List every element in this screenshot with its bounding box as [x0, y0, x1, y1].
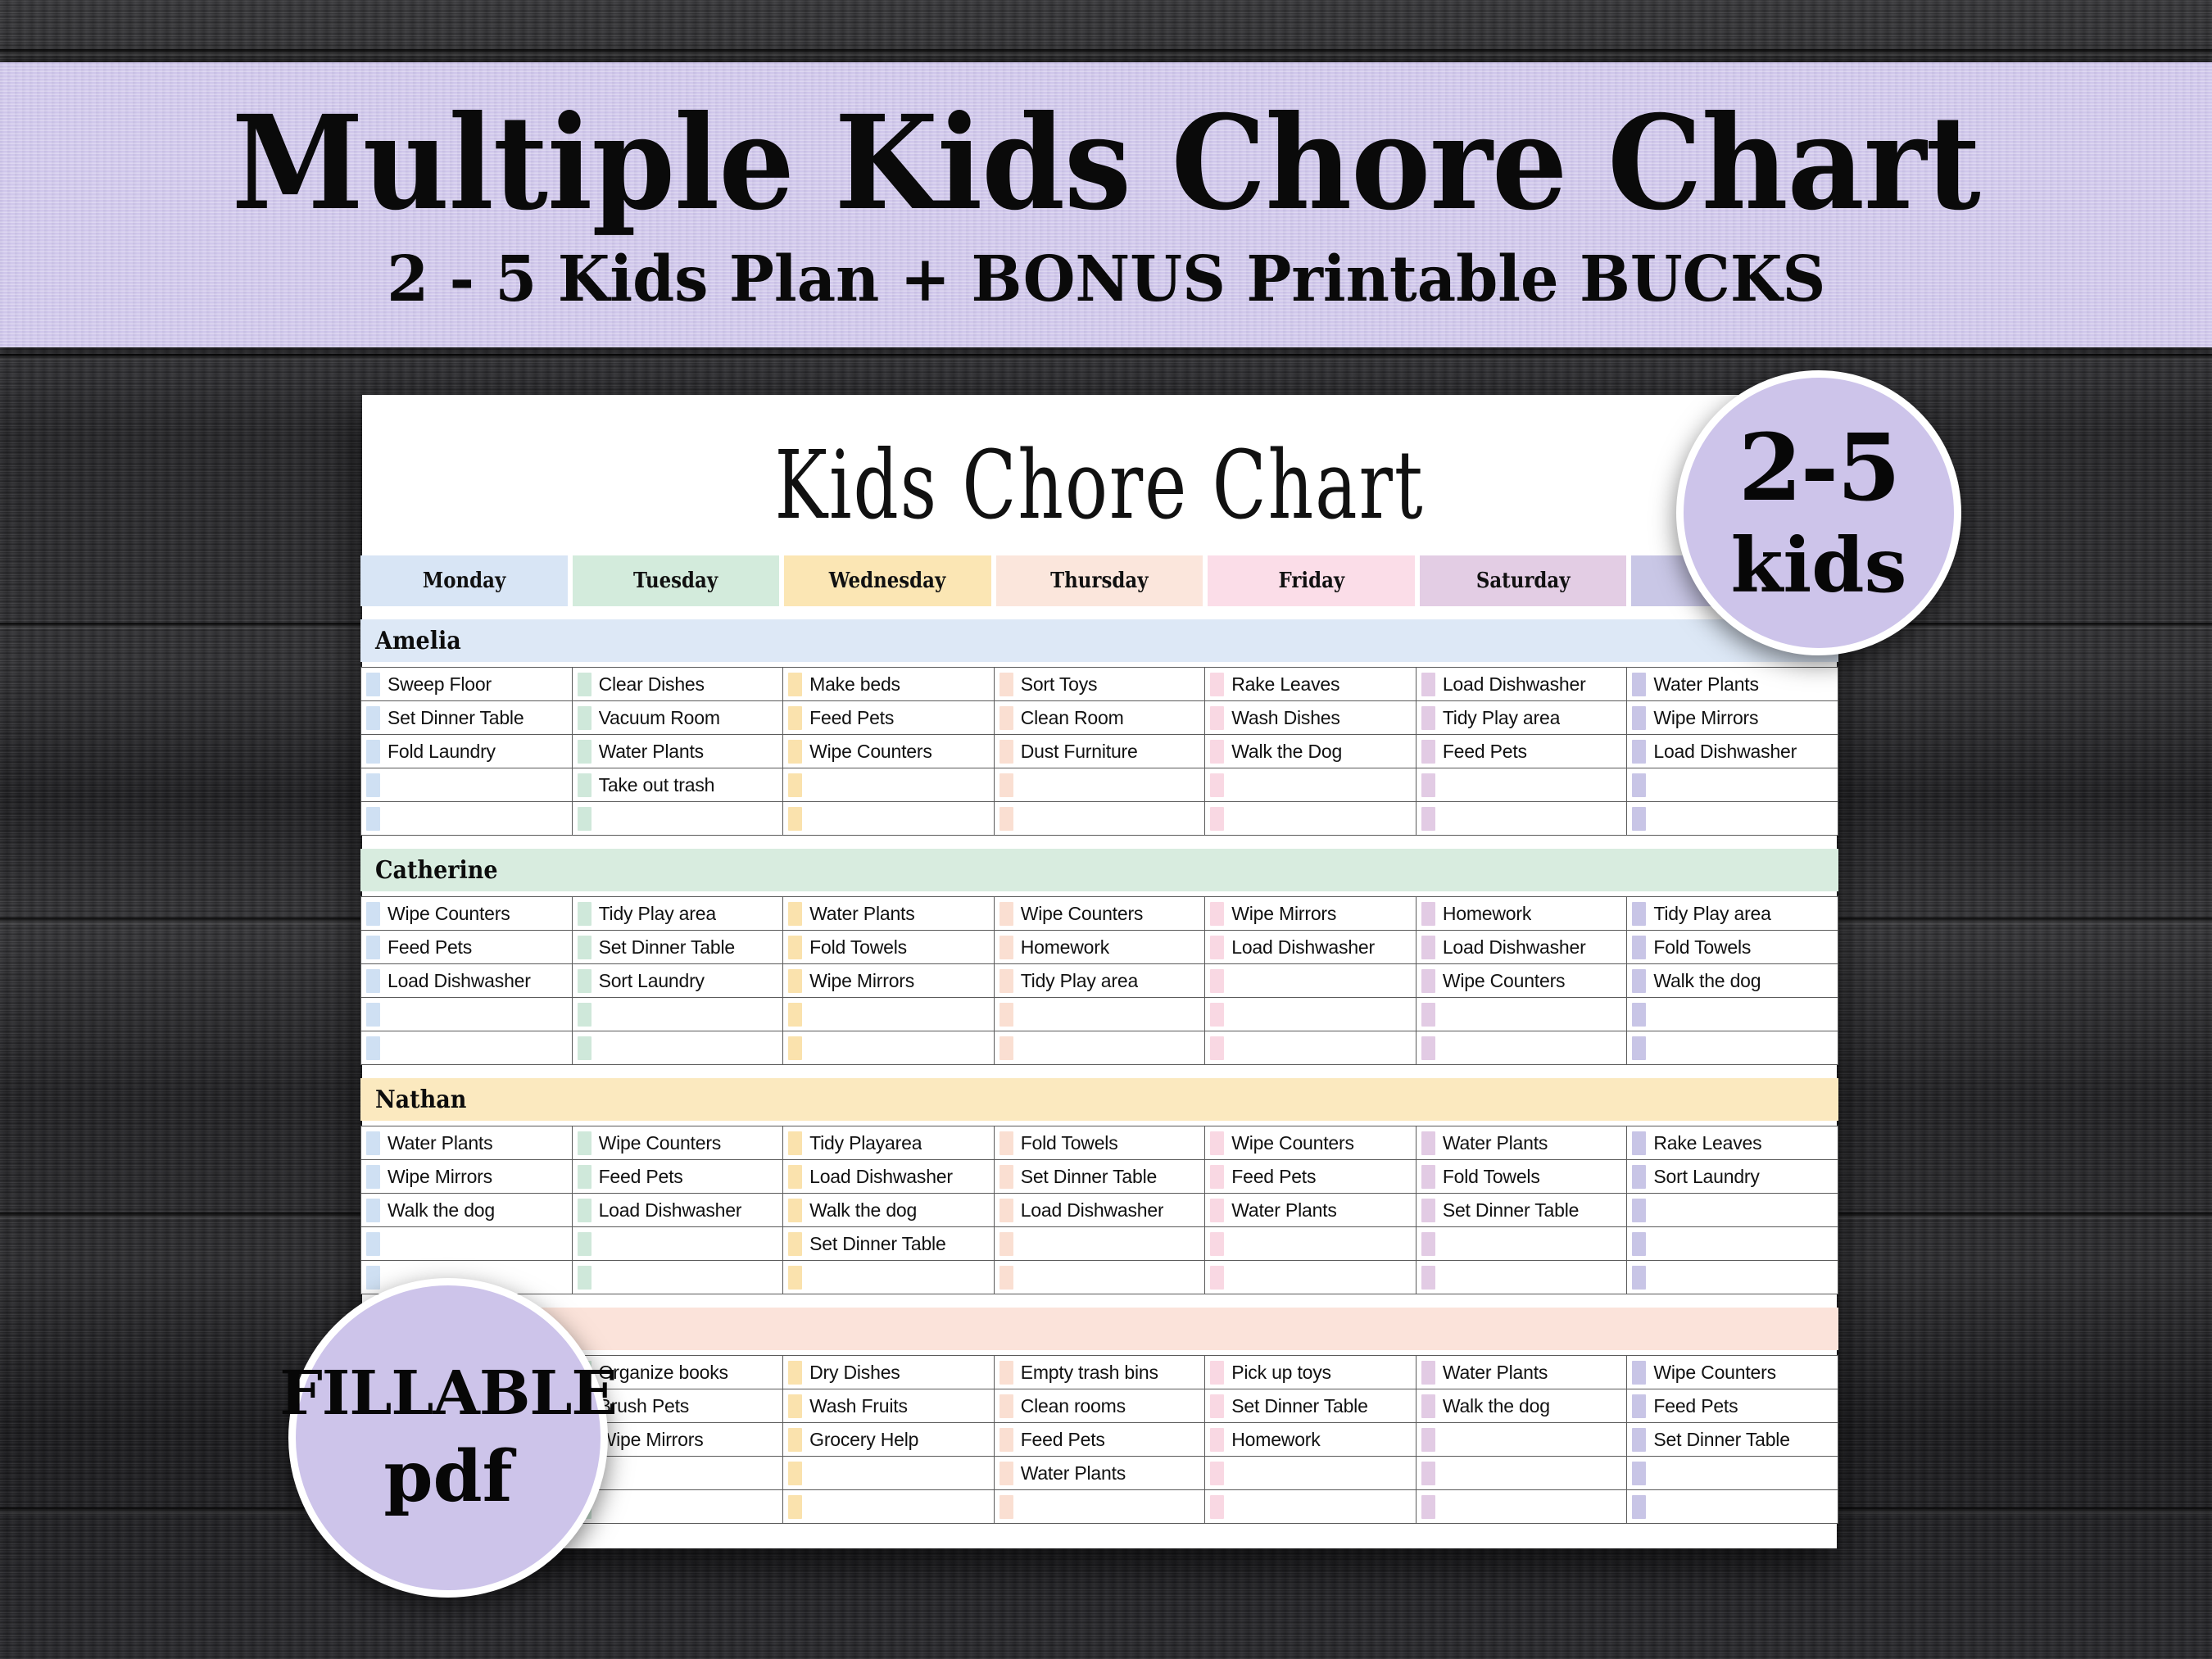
checkbox-chip-icon[interactable]	[788, 1003, 802, 1027]
chore-cell[interactable]: Homework	[994, 931, 1205, 964]
checkbox-chip-icon[interactable]	[788, 1266, 802, 1290]
chore-cell[interactable]: Water Plants	[994, 1457, 1205, 1490]
checkbox-chip-icon[interactable]	[1421, 969, 1435, 993]
checkbox-chip-icon[interactable]	[999, 773, 1013, 797]
chore-cell[interactable]	[361, 1031, 573, 1065]
checkbox-chip-icon[interactable]	[788, 1495, 802, 1519]
chore-cell[interactable]	[1627, 1457, 1838, 1490]
checkbox-chip-icon[interactable]	[1210, 807, 1224, 831]
checkbox-chip-icon[interactable]	[788, 1165, 802, 1189]
checkbox-chip-icon[interactable]	[366, 1131, 380, 1155]
chore-cell[interactable]	[783, 1031, 995, 1065]
checkbox-chip-icon[interactable]	[999, 1361, 1013, 1385]
chore-cell[interactable]: Set Dinner Table	[994, 1160, 1205, 1194]
checkbox-chip-icon[interactable]	[1632, 1428, 1646, 1452]
checkbox-chip-icon[interactable]	[1421, 1428, 1435, 1452]
chore-cell[interactable]: Fold Towels	[1627, 931, 1838, 964]
chore-cell[interactable]: Homework	[1205, 1423, 1416, 1457]
checkbox-chip-icon[interactable]	[1210, 1361, 1224, 1385]
chore-cell[interactable]: Water Plants	[783, 897, 995, 931]
checkbox-chip-icon[interactable]	[788, 1361, 802, 1385]
checkbox-chip-icon[interactable]	[1210, 1165, 1224, 1189]
chore-cell[interactable]	[1205, 1490, 1416, 1524]
chore-cell[interactable]: Wipe Mirrors	[783, 964, 995, 998]
chore-cell[interactable]: Load Dishwasher	[572, 1194, 783, 1227]
checkbox-chip-icon[interactable]	[1210, 1462, 1224, 1485]
chore-cell[interactable]: Load Dishwasher	[783, 1160, 995, 1194]
chore-cell[interactable]: Set Dinner Table	[1416, 1194, 1627, 1227]
checkbox-chip-icon[interactable]	[578, 1131, 592, 1155]
chore-cell[interactable]: Set Dinner Table	[1627, 1423, 1838, 1457]
chore-cell[interactable]	[572, 802, 783, 836]
checkbox-chip-icon[interactable]	[1210, 902, 1224, 926]
checkbox-chip-icon[interactable]	[999, 1131, 1013, 1155]
chore-table: Sweep FloorClear DishesMake bedsSort Toy…	[360, 667, 1838, 836]
checkbox-chip-icon[interactable]	[999, 1266, 1013, 1290]
checkbox-chip-icon[interactable]	[788, 1131, 802, 1155]
checkbox-chip-icon[interactable]	[1632, 1361, 1646, 1385]
person-name-header[interactable]: Nathan	[360, 1078, 1838, 1121]
checkbox-chip-icon[interactable]	[788, 1462, 802, 1485]
checkbox-chip-icon[interactable]	[1210, 1495, 1224, 1519]
chore-cell[interactable]	[1416, 1423, 1627, 1457]
chore-cell[interactable]: Set Dinner Table	[572, 931, 783, 964]
checkbox-chip-icon[interactable]	[788, 706, 802, 730]
chore-cell[interactable]: Sort Laundry	[572, 964, 783, 998]
chore-cell[interactable]	[1205, 998, 1416, 1031]
checkbox-chip-icon[interactable]	[366, 1199, 380, 1222]
checkbox-chip-icon[interactable]	[999, 807, 1013, 831]
checkbox-chip-icon[interactable]	[788, 969, 802, 993]
checkbox-chip-icon[interactable]	[1210, 1428, 1224, 1452]
chore-cell[interactable]: Wipe Counters	[361, 897, 573, 931]
chore-cell[interactable]: Wipe Mirrors	[1205, 897, 1416, 931]
checkbox-chip-icon[interactable]	[1421, 1165, 1435, 1189]
checkbox-chip-icon[interactable]	[1632, 969, 1646, 993]
chore-cell[interactable]: Rake Leaves	[1627, 1126, 1838, 1160]
chore-cell[interactable]: Tidy Playarea	[783, 1126, 995, 1160]
chore-cell[interactable]: Fold Towels	[1416, 1160, 1627, 1194]
person-name-header[interactable]: Catherine	[360, 849, 1838, 891]
chore-label: Load Dishwasher	[1443, 936, 1586, 959]
chore-cell[interactable]: Water Plants	[1627, 668, 1838, 701]
checkbox-chip-icon[interactable]	[578, 936, 592, 959]
page-title: Kids Chore Chart	[392, 395, 1807, 533]
checkbox-chip-icon[interactable]	[578, 1232, 592, 1256]
checkbox-chip-icon[interactable]	[999, 706, 1013, 730]
chore-cell[interactable]	[1205, 964, 1416, 998]
chore-cell[interactable]	[783, 1490, 995, 1524]
chore-label: Walk the Dog	[1231, 741, 1342, 763]
checkbox-chip-icon[interactable]	[999, 1199, 1013, 1222]
checkbox-chip-icon[interactable]	[999, 673, 1013, 696]
chore-cell[interactable]: Fold Laundry	[361, 735, 573, 768]
checkbox-chip-icon[interactable]	[1210, 1003, 1224, 1027]
chore-cell[interactable]: Load Dishwasher	[994, 1194, 1205, 1227]
banner-title: Multiple Kids Chore Chart	[232, 99, 1980, 229]
checkbox-chip-icon[interactable]	[1421, 807, 1435, 831]
checkbox-chip-icon[interactable]	[1421, 1495, 1435, 1519]
chore-cell[interactable]	[783, 998, 995, 1031]
chore-label: Load Dishwasher	[599, 1199, 742, 1222]
chore-cell[interactable]	[1627, 1490, 1838, 1524]
chore-cell[interactable]	[1627, 998, 1838, 1031]
checkbox-chip-icon[interactable]	[999, 936, 1013, 959]
checkbox-chip-icon[interactable]	[366, 1266, 380, 1290]
chore-label: Set Dinner Table	[1231, 1395, 1367, 1417]
checkbox-chip-icon[interactable]	[1632, 1199, 1646, 1222]
chore-cell[interactable]: Wipe Counters	[994, 897, 1205, 931]
chore-label: Water Plants	[1443, 1362, 1548, 1384]
checkbox-chip-icon[interactable]	[999, 1003, 1013, 1027]
checkbox-chip-icon[interactable]	[578, 807, 592, 831]
chore-cell[interactable]	[1205, 1031, 1416, 1065]
chore-cell[interactable]	[994, 1031, 1205, 1065]
chore-cell[interactable]	[994, 998, 1205, 1031]
chore-cell[interactable]: Sweep Floor	[361, 668, 573, 701]
person-name-header[interactable]	[360, 1308, 1838, 1350]
checkbox-chip-icon[interactable]	[1421, 773, 1435, 797]
chore-cell[interactable]: Sort Laundry	[1627, 1160, 1838, 1194]
day-header-tuesday[interactable]: Tuesday	[573, 555, 780, 606]
day-header-thursday[interactable]: Thursday	[996, 555, 1203, 606]
chore-cell[interactable]: Set Dinner Table	[361, 701, 573, 735]
checkbox-chip-icon[interactable]	[366, 673, 380, 696]
checkbox-chip-icon[interactable]	[1632, 773, 1646, 797]
chore-cell[interactable]: Make beds	[783, 668, 995, 701]
chore-cell[interactable]: Load Dishwasher	[1416, 931, 1627, 964]
checkbox-chip-icon[interactable]	[1421, 706, 1435, 730]
chore-cell[interactable]	[361, 768, 573, 802]
checkbox-chip-icon[interactable]	[366, 936, 380, 959]
checkbox-chip-icon[interactable]	[1632, 1131, 1646, 1155]
chore-cell[interactable]	[572, 1490, 783, 1524]
chore-label: Walk the dog	[388, 1199, 495, 1222]
chore-cell[interactable]: Sort Toys	[994, 668, 1205, 701]
chore-cell[interactable]	[1205, 1261, 1416, 1294]
checkbox-chip-icon[interactable]	[366, 1036, 380, 1060]
chore-label: Fold Laundry	[388, 741, 496, 763]
chore-cell[interactable]: Rake Leaves	[1205, 668, 1416, 701]
chore-cell[interactable]: Water Plants	[572, 735, 783, 768]
chore-label: Wipe Counters	[1443, 970, 1566, 992]
checkbox-chip-icon[interactable]	[1210, 773, 1224, 797]
checkbox-chip-icon[interactable]	[999, 1462, 1013, 1485]
checkbox-chip-icon[interactable]	[366, 969, 380, 993]
checkbox-chip-icon[interactable]	[578, 969, 592, 993]
checkbox-chip-icon[interactable]	[999, 1232, 1013, 1256]
chore-cell[interactable]: Wash Dishes	[1205, 701, 1416, 735]
chore-cell[interactable]: Dust Furniture	[994, 735, 1205, 768]
checkbox-chip-icon[interactable]	[366, 902, 380, 926]
checkbox-chip-icon[interactable]	[366, 706, 380, 730]
checkbox-chip-icon[interactable]	[1632, 936, 1646, 959]
chore-label: Water Plants	[1021, 1462, 1126, 1484]
chore-cell[interactable]: Water Plants	[1205, 1194, 1416, 1227]
chore-cell[interactable]	[361, 1227, 573, 1261]
checkbox-chip-icon[interactable]	[366, 1165, 380, 1189]
chore-cell[interactable]	[783, 1261, 995, 1294]
chore-cell[interactable]	[1205, 802, 1416, 836]
chore-cell[interactable]: Feed Pets	[361, 931, 573, 964]
chore-cell[interactable]: Wipe Mirrors	[361, 1160, 573, 1194]
chore-cell[interactable]	[1627, 1031, 1838, 1065]
chore-cell[interactable]: Set Dinner Table	[1205, 1389, 1416, 1423]
chore-cell[interactable]: Water Plants	[1416, 1126, 1627, 1160]
chore-cell[interactable]: Wipe Counters	[1205, 1126, 1416, 1160]
chore-cell[interactable]	[1416, 1490, 1627, 1524]
checkbox-chip-icon[interactable]	[1632, 1394, 1646, 1418]
checkbox-chip-icon[interactable]	[366, 773, 380, 797]
checkbox-chip-icon[interactable]	[366, 740, 380, 764]
checkbox-chip-icon[interactable]	[788, 1428, 802, 1452]
checkbox-chip-icon[interactable]	[1632, 740, 1646, 764]
checkbox-chip-icon[interactable]	[1210, 673, 1224, 696]
checkbox-chip-icon[interactable]	[1210, 1232, 1224, 1256]
checkbox-chip-icon[interactable]	[1421, 1003, 1435, 1027]
chore-cell[interactable]: Vacuum Room	[572, 701, 783, 735]
checkbox-chip-icon[interactable]	[1421, 1232, 1435, 1256]
checkbox-chip-icon[interactable]	[1632, 902, 1646, 926]
chore-cell[interactable]	[572, 1031, 783, 1065]
chore-cell[interactable]: Homework	[1416, 897, 1627, 931]
day-header-label: Thursday	[1050, 569, 1148, 593]
day-header-label: Friday	[1278, 569, 1344, 593]
chore-cell[interactable]	[1205, 768, 1416, 802]
checkbox-chip-icon[interactable]	[788, 740, 802, 764]
chore-cell[interactable]: Water Plants	[361, 1126, 573, 1160]
chore-cell[interactable]: Tidy Play area	[1416, 701, 1627, 735]
checkbox-chip-icon[interactable]	[788, 1199, 802, 1222]
chore-cell[interactable]: Feed Pets	[572, 1160, 783, 1194]
badge-fillable-pdf: FILLABLE pdf	[288, 1278, 608, 1598]
checkbox-chip-icon[interactable]	[788, 902, 802, 926]
checkbox-chip-icon[interactable]	[1210, 1266, 1224, 1290]
checkbox-chip-icon[interactable]	[1210, 706, 1224, 730]
day-header-saturday[interactable]: Saturday	[1420, 555, 1627, 606]
person-name-header[interactable]: Amelia	[360, 619, 1838, 662]
chore-label: Fold Towels	[1021, 1132, 1118, 1154]
checkbox-chip-icon[interactable]	[1210, 1199, 1224, 1222]
checkbox-chip-icon[interactable]	[578, 773, 592, 797]
day-header-row: MondayTuesdayWednesdayThursdayFridaySatu…	[360, 555, 1838, 606]
table-row: Walk the dogLoad DishwasherWalk the dogL…	[361, 1194, 1838, 1227]
checkbox-chip-icon[interactable]	[1632, 1003, 1646, 1027]
chore-cell[interactable]	[1627, 768, 1838, 802]
checkbox-chip-icon[interactable]	[578, 740, 592, 764]
chore-cell[interactable]: Grocery Help	[783, 1423, 995, 1457]
day-header-wednesday[interactable]: Wednesday	[784, 555, 991, 606]
checkbox-chip-icon[interactable]	[1210, 969, 1224, 993]
chore-cell[interactable]: Fold Towels	[783, 931, 995, 964]
checkbox-chip-icon[interactable]	[788, 1036, 802, 1060]
chore-cell[interactable]	[1627, 1227, 1838, 1261]
checkbox-chip-icon[interactable]	[788, 936, 802, 959]
chore-cell[interactable]: Wipe Counters	[1416, 964, 1627, 998]
chore-cell[interactable]: Tidy Play area	[572, 897, 783, 931]
chore-cell[interactable]: Wipe Counters	[572, 1126, 783, 1160]
checkbox-chip-icon[interactable]	[1632, 1036, 1646, 1060]
chore-cell[interactable]: Dry Dishes	[783, 1356, 995, 1389]
chore-cell[interactable]: Clean rooms	[994, 1389, 1205, 1423]
chore-cell[interactable]: Walk the Dog	[1205, 735, 1416, 768]
chore-cell[interactable]: Set Dinner Table	[783, 1227, 995, 1261]
chore-label: Feed Pets	[1443, 741, 1527, 763]
checkbox-chip-icon[interactable]	[1210, 1394, 1224, 1418]
chore-cell[interactable]	[783, 1457, 995, 1490]
checkbox-chip-icon[interactable]	[1421, 1394, 1435, 1418]
checkbox-chip-icon[interactable]	[578, 1036, 592, 1060]
checkbox-chip-icon[interactable]	[788, 1394, 802, 1418]
chore-cell[interactable]: Load Dishwasher	[1416, 668, 1627, 701]
checkbox-chip-icon[interactable]	[1421, 740, 1435, 764]
checkbox-chip-icon[interactable]	[1632, 706, 1646, 730]
checkbox-chip-icon[interactable]	[578, 1003, 592, 1027]
chore-cell[interactable]: Clean Room	[994, 701, 1205, 735]
chore-cell[interactable]: Feed Pets	[783, 701, 995, 735]
checkbox-chip-icon[interactable]	[578, 902, 592, 926]
chore-cell[interactable]	[572, 1227, 783, 1261]
chore-cell[interactable]: Water Plants	[1416, 1356, 1627, 1389]
checkbox-chip-icon[interactable]	[788, 673, 802, 696]
checkbox-chip-icon[interactable]	[578, 706, 592, 730]
checkbox-chip-icon[interactable]	[366, 807, 380, 831]
checkbox-chip-icon[interactable]	[1632, 1232, 1646, 1256]
chore-cell[interactable]: Load Dishwasher	[361, 964, 573, 998]
checkbox-chip-icon[interactable]	[999, 1394, 1013, 1418]
chore-cell[interactable]: Clear Dishes	[572, 668, 783, 701]
chore-cell[interactable]	[1416, 802, 1627, 836]
chore-cell[interactable]: Feed Pets	[994, 1423, 1205, 1457]
chore-cell[interactable]: Tidy Play area	[994, 964, 1205, 998]
chore-cell[interactable]: Load Dishwasher	[1205, 931, 1416, 964]
checkbox-chip-icon[interactable]	[1210, 1036, 1224, 1060]
chore-cell[interactable]	[572, 1261, 783, 1294]
table-row: Take out trash	[361, 768, 1838, 802]
chore-cell[interactable]	[1416, 768, 1627, 802]
chore-cell[interactable]	[572, 998, 783, 1031]
checkbox-chip-icon[interactable]	[1421, 1462, 1435, 1485]
checkbox-chip-icon[interactable]	[999, 969, 1013, 993]
checkbox-chip-icon[interactable]	[999, 1428, 1013, 1452]
day-header-monday[interactable]: Monday	[360, 555, 568, 606]
chore-cell[interactable]	[1627, 1261, 1838, 1294]
checkbox-chip-icon[interactable]	[999, 1165, 1013, 1189]
chore-cell[interactable]: Walk the dog	[1416, 1389, 1627, 1423]
checkbox-chip-icon[interactable]	[1632, 1266, 1646, 1290]
checkbox-chip-icon[interactable]	[1210, 936, 1224, 959]
checkbox-chip-icon[interactable]	[578, 1199, 592, 1222]
chore-cell[interactable]: Walk the dog	[361, 1194, 573, 1227]
chore-cell[interactable]	[994, 1261, 1205, 1294]
checkbox-chip-icon[interactable]	[1421, 936, 1435, 959]
chore-cell[interactable]	[1416, 1261, 1627, 1294]
chore-cell[interactable]: Feed Pets	[1416, 735, 1627, 768]
chore-cell[interactable]: Pick up toys	[1205, 1356, 1416, 1389]
chore-cell[interactable]	[994, 1227, 1205, 1261]
chore-label: Wipe Counters	[809, 741, 932, 763]
checkbox-chip-icon[interactable]	[366, 1003, 380, 1027]
checkbox-chip-icon[interactable]	[1632, 1495, 1646, 1519]
day-header-friday[interactable]: Friday	[1208, 555, 1415, 606]
chore-cell[interactable]: Fold Towels	[994, 1126, 1205, 1160]
chore-cell[interactable]	[994, 768, 1205, 802]
chore-cell[interactable]	[361, 802, 573, 836]
checkbox-chip-icon[interactable]	[999, 1495, 1013, 1519]
checkbox-chip-icon[interactable]	[999, 1036, 1013, 1060]
checkbox-chip-icon[interactable]	[1632, 1165, 1646, 1189]
chore-cell[interactable]: Walk the dog	[1627, 964, 1838, 998]
chore-cell[interactable]	[994, 802, 1205, 836]
chore-label: Make beds	[809, 673, 900, 696]
chore-label: Wipe Counters	[599, 1132, 722, 1154]
chore-cell[interactable]: Wipe Counters	[783, 735, 995, 768]
checkbox-chip-icon[interactable]	[788, 1232, 802, 1256]
checkbox-chip-icon[interactable]	[999, 740, 1013, 764]
checkbox-chip-icon[interactable]	[366, 1232, 380, 1256]
checkbox-chip-icon[interactable]	[788, 773, 802, 797]
chore-cell[interactable]	[1627, 802, 1838, 836]
checkbox-chip-icon[interactable]	[788, 807, 802, 831]
checkbox-chip-icon[interactable]	[1421, 902, 1435, 926]
checkbox-chip-icon[interactable]	[1421, 1266, 1435, 1290]
checkbox-chip-icon[interactable]	[999, 902, 1013, 926]
checkbox-chip-icon[interactable]	[1421, 1131, 1435, 1155]
badge-fillable-line2: pdf	[383, 1442, 512, 1512]
chore-cell[interactable]: Feed Pets	[1627, 1389, 1838, 1423]
chore-cell[interactable]	[1416, 998, 1627, 1031]
chore-cell[interactable]	[1205, 1457, 1416, 1490]
checkbox-chip-icon[interactable]	[1210, 1131, 1224, 1155]
chore-cell[interactable]	[1205, 1227, 1416, 1261]
checkbox-chip-icon[interactable]	[1632, 673, 1646, 696]
chore-cell[interactable]	[994, 1490, 1205, 1524]
chore-cell[interactable]: Load Dishwasher	[1627, 735, 1838, 768]
chore-label: Feed Pets	[388, 936, 472, 959]
chore-cell[interactable]	[1416, 1227, 1627, 1261]
checkbox-chip-icon[interactable]	[578, 673, 592, 696]
chore-cell[interactable]: Walk the dog	[783, 1194, 995, 1227]
chore-cell[interactable]: Wash Fruits	[783, 1389, 995, 1423]
checkbox-chip-icon[interactable]	[1632, 1462, 1646, 1485]
chore-cell[interactable]: Empty trash bins	[994, 1356, 1205, 1389]
chore-cell[interactable]	[783, 768, 995, 802]
checkbox-chip-icon[interactable]	[1210, 740, 1224, 764]
checkbox-chip-icon[interactable]	[1421, 1199, 1435, 1222]
checkbox-chip-icon[interactable]	[1421, 673, 1435, 696]
chore-cell[interactable]	[1627, 1194, 1838, 1227]
chore-cell[interactable]	[1416, 1031, 1627, 1065]
checkbox-chip-icon[interactable]	[1632, 807, 1646, 831]
chore-cell[interactable]: Wipe Counters	[1627, 1356, 1838, 1389]
chore-cell[interactable]: Take out trash	[572, 768, 783, 802]
chore-label: Homework	[1021, 936, 1109, 959]
chore-label: Tidy Play area	[1021, 970, 1138, 992]
chore-cell[interactable]: Feed Pets	[1205, 1160, 1416, 1194]
day-header-label: Saturday	[1476, 569, 1571, 593]
checkbox-chip-icon[interactable]	[1421, 1361, 1435, 1385]
chore-cell[interactable]: Wipe Mirrors	[1627, 701, 1838, 735]
checkbox-chip-icon[interactable]	[578, 1266, 592, 1290]
checkbox-chip-icon[interactable]	[1421, 1036, 1435, 1060]
chore-cell[interactable]	[361, 998, 573, 1031]
chore-label: Wipe Mirrors	[1653, 707, 1758, 729]
chore-label: Load Dishwasher	[1653, 741, 1797, 763]
checkbox-chip-icon[interactable]	[578, 1165, 592, 1189]
chore-cell[interactable]	[1416, 1457, 1627, 1490]
chore-cell[interactable]	[783, 802, 995, 836]
chore-cell[interactable]: Tidy Play area	[1627, 897, 1838, 931]
